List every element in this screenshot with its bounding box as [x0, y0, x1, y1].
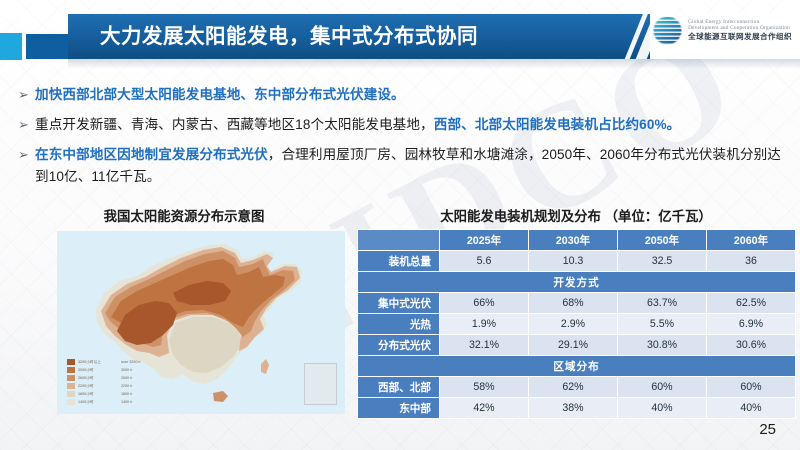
logo-en-line2: Development and Cooperation Organization: [688, 25, 792, 31]
table-cell: 62.5%: [707, 293, 796, 314]
bullet-list: ➢加快西部北部大型太阳能发电基地、东中部分布式光伏建设。➢重点开发新疆、青海、内…: [18, 84, 786, 196]
legend-swatch: [67, 359, 75, 365]
table-cell: 10.3: [529, 251, 618, 272]
legend-swatch: [67, 375, 75, 381]
table-cell: 1.9%: [440, 314, 529, 335]
table-cell: 60%: [707, 377, 796, 398]
bullet-text-highlight: 在东中部地区因地制宜发展分布式光伏: [35, 147, 268, 162]
table-row-header: 光热: [358, 314, 440, 335]
header-cyan-square: [0, 33, 22, 60]
legend-label-cn: 2200小时: [78, 384, 118, 389]
table-row: 集中式光伏66%68%63.7%62.5%: [358, 293, 796, 314]
table-corner-cell: [358, 230, 440, 251]
table-cell: 29.1%: [529, 335, 618, 356]
legend-label-cn: 1400小时: [78, 400, 118, 405]
table-cell: 58%: [440, 377, 529, 398]
table-cell: 62%: [529, 377, 618, 398]
slide-header: 大力发展太阳能发电，集中式分布式协同 Global Energy Interco…: [0, 0, 800, 72]
table-cell: 60%: [618, 377, 707, 398]
legend-label-cn: 3000小时: [78, 368, 118, 373]
solar-resource-map: 3200小时以上over 3200 h3000小时3000 h2600小时260…: [57, 231, 345, 414]
table-section-label: 区域分布: [358, 356, 796, 377]
table-row: 装机总量5.610.332.536: [358, 251, 796, 272]
bullet-arrow-icon: ➢: [18, 144, 35, 166]
map-legend-item: 2200小时2200 h: [67, 383, 155, 391]
table-title: 太阳能发电装机规划及分布 （单位：亿千瓦）: [357, 205, 795, 225]
table-cell: 66%: [440, 293, 529, 314]
bullet-text: 重点开发新疆、青海、内蒙古、西藏等地区18个太阳能发电基地，西部、北部太阳能发电…: [35, 114, 680, 136]
table-cell: 68%: [529, 293, 618, 314]
table-row: 光热1.9%2.9%5.5%6.9%: [358, 314, 796, 335]
legend-label-cn: 2600小时: [78, 376, 118, 381]
bullet-text: 在东中部地区因地制宜发展分布式光伏，合理利用屋顶厂房、园林牧草和水塘滩涂，205…: [35, 144, 786, 188]
table-head: 2025年2030年2050年2060年: [358, 230, 796, 251]
table-cell: 42%: [440, 398, 529, 419]
solar-capacity-table: 2025年2030年2050年2060年 装机总量5.610.332.536开发…: [357, 229, 796, 419]
legend-label-cn: 1800小时: [78, 392, 118, 397]
bullet-arrow-icon: ➢: [18, 114, 35, 136]
table-column-header: 2050年: [618, 230, 707, 251]
table-cell: 40%: [707, 398, 796, 419]
table-row-header: 东中部: [358, 398, 440, 419]
globe-icon: [653, 16, 682, 45]
table-section-label: 开发方式: [358, 272, 796, 293]
legend-label-en: 2600 h: [121, 376, 155, 380]
legend-swatch: [67, 383, 75, 389]
table-column-header: 2030年: [529, 230, 618, 251]
table-body: 装机总量5.610.332.536开发方式集中式光伏66%68%63.7%62.…: [358, 251, 796, 419]
legend-label-en: 3000 h: [121, 368, 155, 372]
bullet-item: ➢重点开发新疆、青海、内蒙古、西藏等地区18个太阳能发电基地，西部、北部太阳能发…: [18, 114, 786, 136]
page-title: 大力发展太阳能发电，集中式分布式协同: [100, 14, 478, 59]
organization-logo: Global Energy Interconnection Developmen…: [653, 16, 792, 45]
bullet-item: ➢在东中部地区因地制宜发展分布式光伏，合理利用屋顶厂房、园林牧草和水塘滩涂，20…: [18, 144, 786, 188]
map-legend-item: 1800小时1800 h: [67, 391, 155, 399]
map-legend-item: 3000小时3000 h: [67, 367, 155, 375]
table-cell: 40%: [618, 398, 707, 419]
table-cell: 30.8%: [618, 335, 707, 356]
table-row: 分布式光伏32.1%29.1%30.8%30.6%: [358, 335, 796, 356]
bullet-text-highlight: 西部、北部太阳能发电装机占比约60%。: [434, 117, 681, 132]
map-inset-southsea: [304, 363, 337, 405]
table-cell: 36: [707, 251, 796, 272]
bullet-item: ➢加快西部北部大型太阳能发电基地、东中部分布式光伏建设。: [18, 84, 786, 106]
table-row-header: 分布式光伏: [358, 335, 440, 356]
bullet-text-plain: 重点开发新疆、青海、内蒙古、西藏等地区18个太阳能发电基地，: [35, 117, 434, 132]
table-cell: 30.6%: [707, 335, 796, 356]
map-legend: 3200小时以上over 3200 h3000小时3000 h2600小时260…: [67, 359, 155, 407]
table-row: 东中部42%38%40%40%: [358, 398, 796, 419]
legend-swatch: [67, 391, 75, 397]
table-cell: 63.7%: [618, 293, 707, 314]
header-blue-square: [25, 33, 69, 60]
page-number: 25: [759, 421, 776, 438]
legend-label-en: 2200 h: [121, 384, 155, 388]
legend-label-en: 1400 h: [121, 400, 155, 404]
map-legend-item: 2600小时2600 h: [67, 375, 155, 383]
map-legend-item: 1400小时1400 h: [67, 399, 155, 407]
table-cell: 32.1%: [440, 335, 529, 356]
table-row-header: 西部、北部: [358, 377, 440, 398]
table-cell: 38%: [529, 398, 618, 419]
header-shadow: [68, 59, 800, 69]
table-row-header: 装机总量: [358, 251, 440, 272]
table-section-row: 开发方式: [358, 272, 796, 293]
table-column-header: 2025年: [440, 230, 529, 251]
table-cell: 5.5%: [618, 314, 707, 335]
table-cell: 5.6: [440, 251, 529, 272]
legend-swatch: [67, 367, 75, 373]
table-cell: 6.9%: [707, 314, 796, 335]
table-column-header: 2060年: [707, 230, 796, 251]
legend-label-cn: 3200小时以上: [78, 360, 118, 365]
logo-cn-name: 全球能源互联网发展合作组织: [688, 33, 792, 42]
table-cell: 32.5: [618, 251, 707, 272]
bullet-arrow-icon: ➢: [18, 84, 35, 106]
bullet-text-highlight: 加快西部北部大型太阳能发电基地、东中部分布式光伏建设。: [35, 87, 405, 102]
table-cell: 2.9%: [529, 314, 618, 335]
table-row-header: 集中式光伏: [358, 293, 440, 314]
map-title: 我国太阳能资源分布示意图: [34, 205, 334, 225]
slide-root: GEIDCO 大力发展太阳能发电，集中式分布式协同 Global Energy …: [0, 0, 800, 450]
table-row: 西部、北部58%62%60%60%: [358, 377, 796, 398]
table-header-row: 2025年2030年2050年2060年: [358, 230, 796, 251]
bullet-text: 加快西部北部大型太阳能发电基地、东中部分布式光伏建设。: [35, 84, 405, 106]
table-section-row: 区域分布: [358, 356, 796, 377]
legend-label-en: 1800 h: [121, 392, 155, 396]
logo-text: Global Energy Interconnection Developmen…: [688, 19, 792, 42]
legend-label-en: over 3200 h: [121, 360, 155, 364]
legend-swatch: [67, 399, 75, 405]
map-legend-item: 3200小时以上over 3200 h: [67, 359, 155, 367]
